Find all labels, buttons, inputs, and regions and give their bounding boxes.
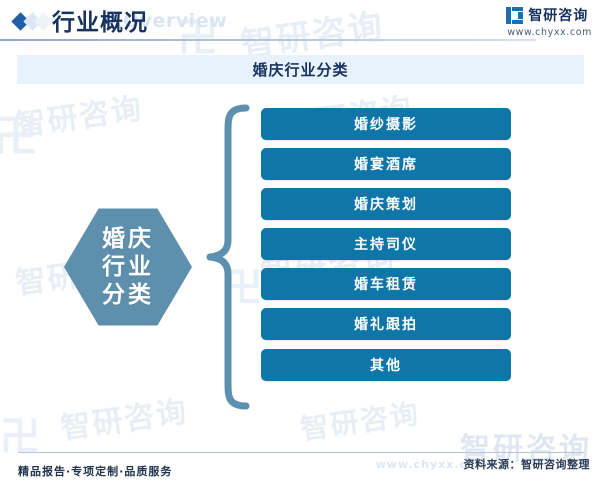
- category-bar[interactable]: 婚纱摄影: [261, 108, 511, 140]
- category-bar[interactable]: 婚宴酒席: [261, 148, 511, 180]
- category-label: 婚纱摄影: [354, 114, 418, 134]
- footer-source: 资料来源：智研咨询整理: [464, 456, 591, 472]
- category-bar[interactable]: 其他: [261, 349, 511, 381]
- page-footer: 精品报告·专项定制·品质服务 资料来源：智研咨询整理: [0, 452, 600, 491]
- category-bar[interactable]: 主持司仪: [261, 228, 511, 260]
- header-divider: [0, 39, 536, 41]
- root-label-line-1: 婚庆: [102, 225, 154, 253]
- root-label-line-2: 行业: [102, 253, 154, 281]
- page-title: 行业概况: [52, 3, 148, 37]
- brand-block: 智研咨询 www.chyxx.com: [506, 5, 592, 38]
- diagram-root-node: 婚庆 行业 分类: [64, 206, 192, 328]
- category-bar-list: 婚纱摄影 婚宴酒席 婚庆策划 主持司仪 婚车租赁 婚礼跟拍 其他: [261, 108, 511, 381]
- category-label: 婚宴酒席: [354, 154, 418, 174]
- category-label: 婚车租赁: [354, 274, 418, 294]
- category-label: 婚礼跟拍: [354, 314, 418, 334]
- category-bar[interactable]: 婚庆策划: [261, 188, 511, 220]
- category-label: 主持司仪: [354, 234, 418, 254]
- chyxx-logo-icon: [506, 7, 523, 24]
- root-label-line-3: 分类: [102, 281, 154, 309]
- chart-title: 婚庆行业分类: [252, 59, 348, 80]
- category-bar[interactable]: 婚车租赁: [261, 268, 511, 300]
- footer-divider: [18, 452, 584, 453]
- category-label: 其他: [370, 355, 402, 375]
- chart-title-band: 婚庆行业分类: [17, 55, 584, 84]
- diamond-bullet-icon: [14, 13, 56, 31]
- curly-brace-icon: [188, 102, 250, 412]
- category-bar[interactable]: 婚礼跟拍: [261, 308, 511, 340]
- brand-url: www.chyxx.com: [507, 27, 592, 38]
- classification-diagram: 婚庆 行业 分类 婚纱摄影 婚宴酒席 婚庆策划 主持司仪 婚车租赁 婚礼跟拍 其…: [0, 84, 600, 424]
- page-header: Overview 行业概况 智研咨询 www.chyxx.com: [0, 0, 600, 42]
- footer-tagline: 精品报告·专项定制·品质服务: [18, 463, 172, 479]
- brand-name: 智研咨询: [528, 5, 588, 25]
- category-label: 婚庆策划: [354, 194, 418, 214]
